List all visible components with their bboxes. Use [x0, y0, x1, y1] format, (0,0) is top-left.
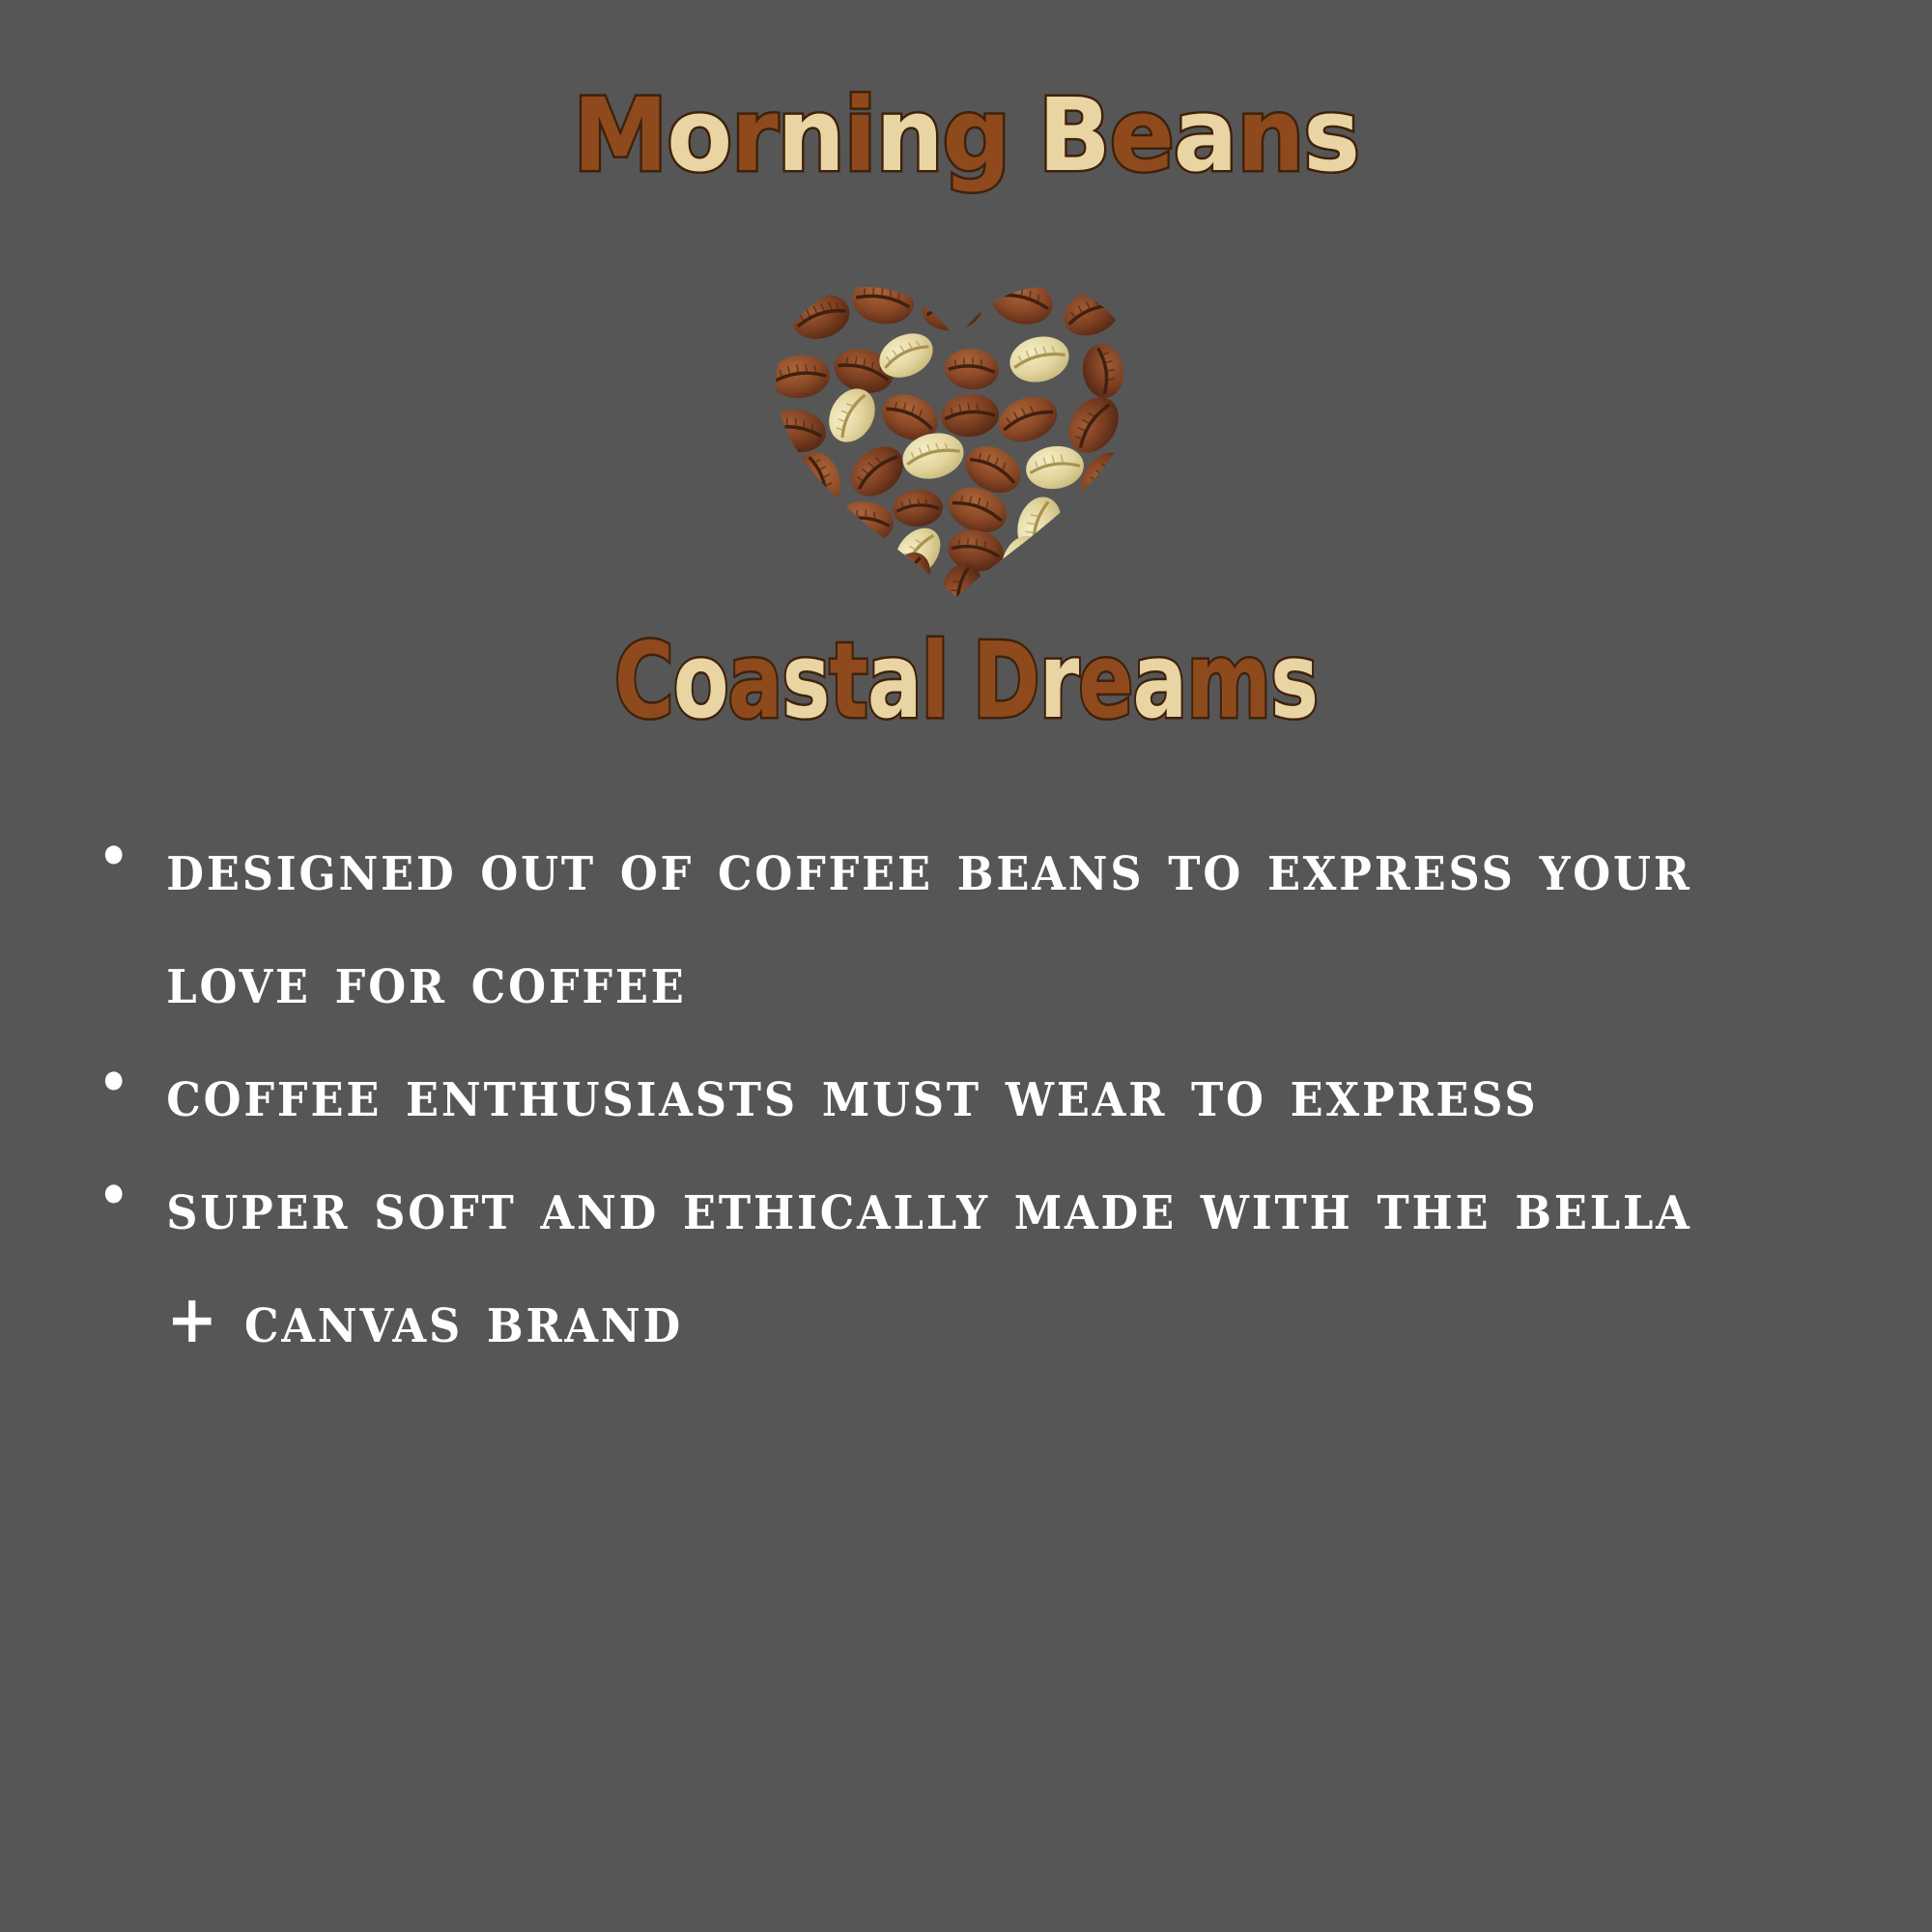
brand-title-letter-1: o — [667, 85, 731, 185]
brand-title-letter-8: B — [1038, 85, 1110, 185]
design-name-letter-12: m — [1186, 630, 1270, 734]
brand-title-letter-3: n — [777, 85, 843, 185]
brand-title: MorningBeans — [48, 85, 1884, 185]
design-name-letter-11: a — [1132, 630, 1186, 734]
product-listing-graphic: MorningBeans — [0, 0, 1932, 1932]
coffee-bean-heart-icon — [763, 263, 1150, 611]
design-name-letter-0: C — [614, 630, 673, 734]
feature-item: Designed out of coffee beans to express … — [93, 811, 1737, 1037]
feature-item: Super soft and ethically made with the B… — [93, 1151, 1737, 1377]
design-name-letter-1: o — [673, 630, 728, 734]
brand-title-letter-9: e — [1110, 85, 1174, 185]
design-name-letter-6: l — [922, 630, 949, 734]
brand-title-letter-10: a — [1174, 85, 1236, 185]
design-name-letter-13: s — [1270, 630, 1318, 734]
design-name-letter-2: a — [728, 630, 782, 734]
feature-bullet-list: Designed out of coffee beans to express … — [93, 811, 1861, 1377]
brand-title-letter-5: n — [875, 85, 942, 185]
design-name-letter-8: D — [973, 630, 1039, 734]
design-name: CoastalDreams — [213, 630, 1719, 734]
design-name-letter-5: a — [867, 630, 922, 734]
design-name-letter-3: s — [781, 630, 829, 734]
design-name-letter-4: t — [830, 630, 867, 734]
brand-title-letter-0: M — [573, 85, 667, 185]
coffee-bean-heart-image — [763, 263, 1150, 611]
brand-title-letter-2: r — [731, 85, 778, 185]
brand-title-letter-11: n — [1236, 85, 1303, 185]
design-name-letter-10: e — [1078, 630, 1132, 734]
brand-title-letter-6: g — [942, 85, 1009, 185]
design-name-letter-9: r — [1039, 630, 1079, 734]
feature-item: Coffee enthusiasts must wear to express — [93, 1037, 1737, 1151]
brand-title-letter-12: s — [1303, 85, 1359, 185]
brand-title-letter-4: i — [844, 85, 876, 185]
